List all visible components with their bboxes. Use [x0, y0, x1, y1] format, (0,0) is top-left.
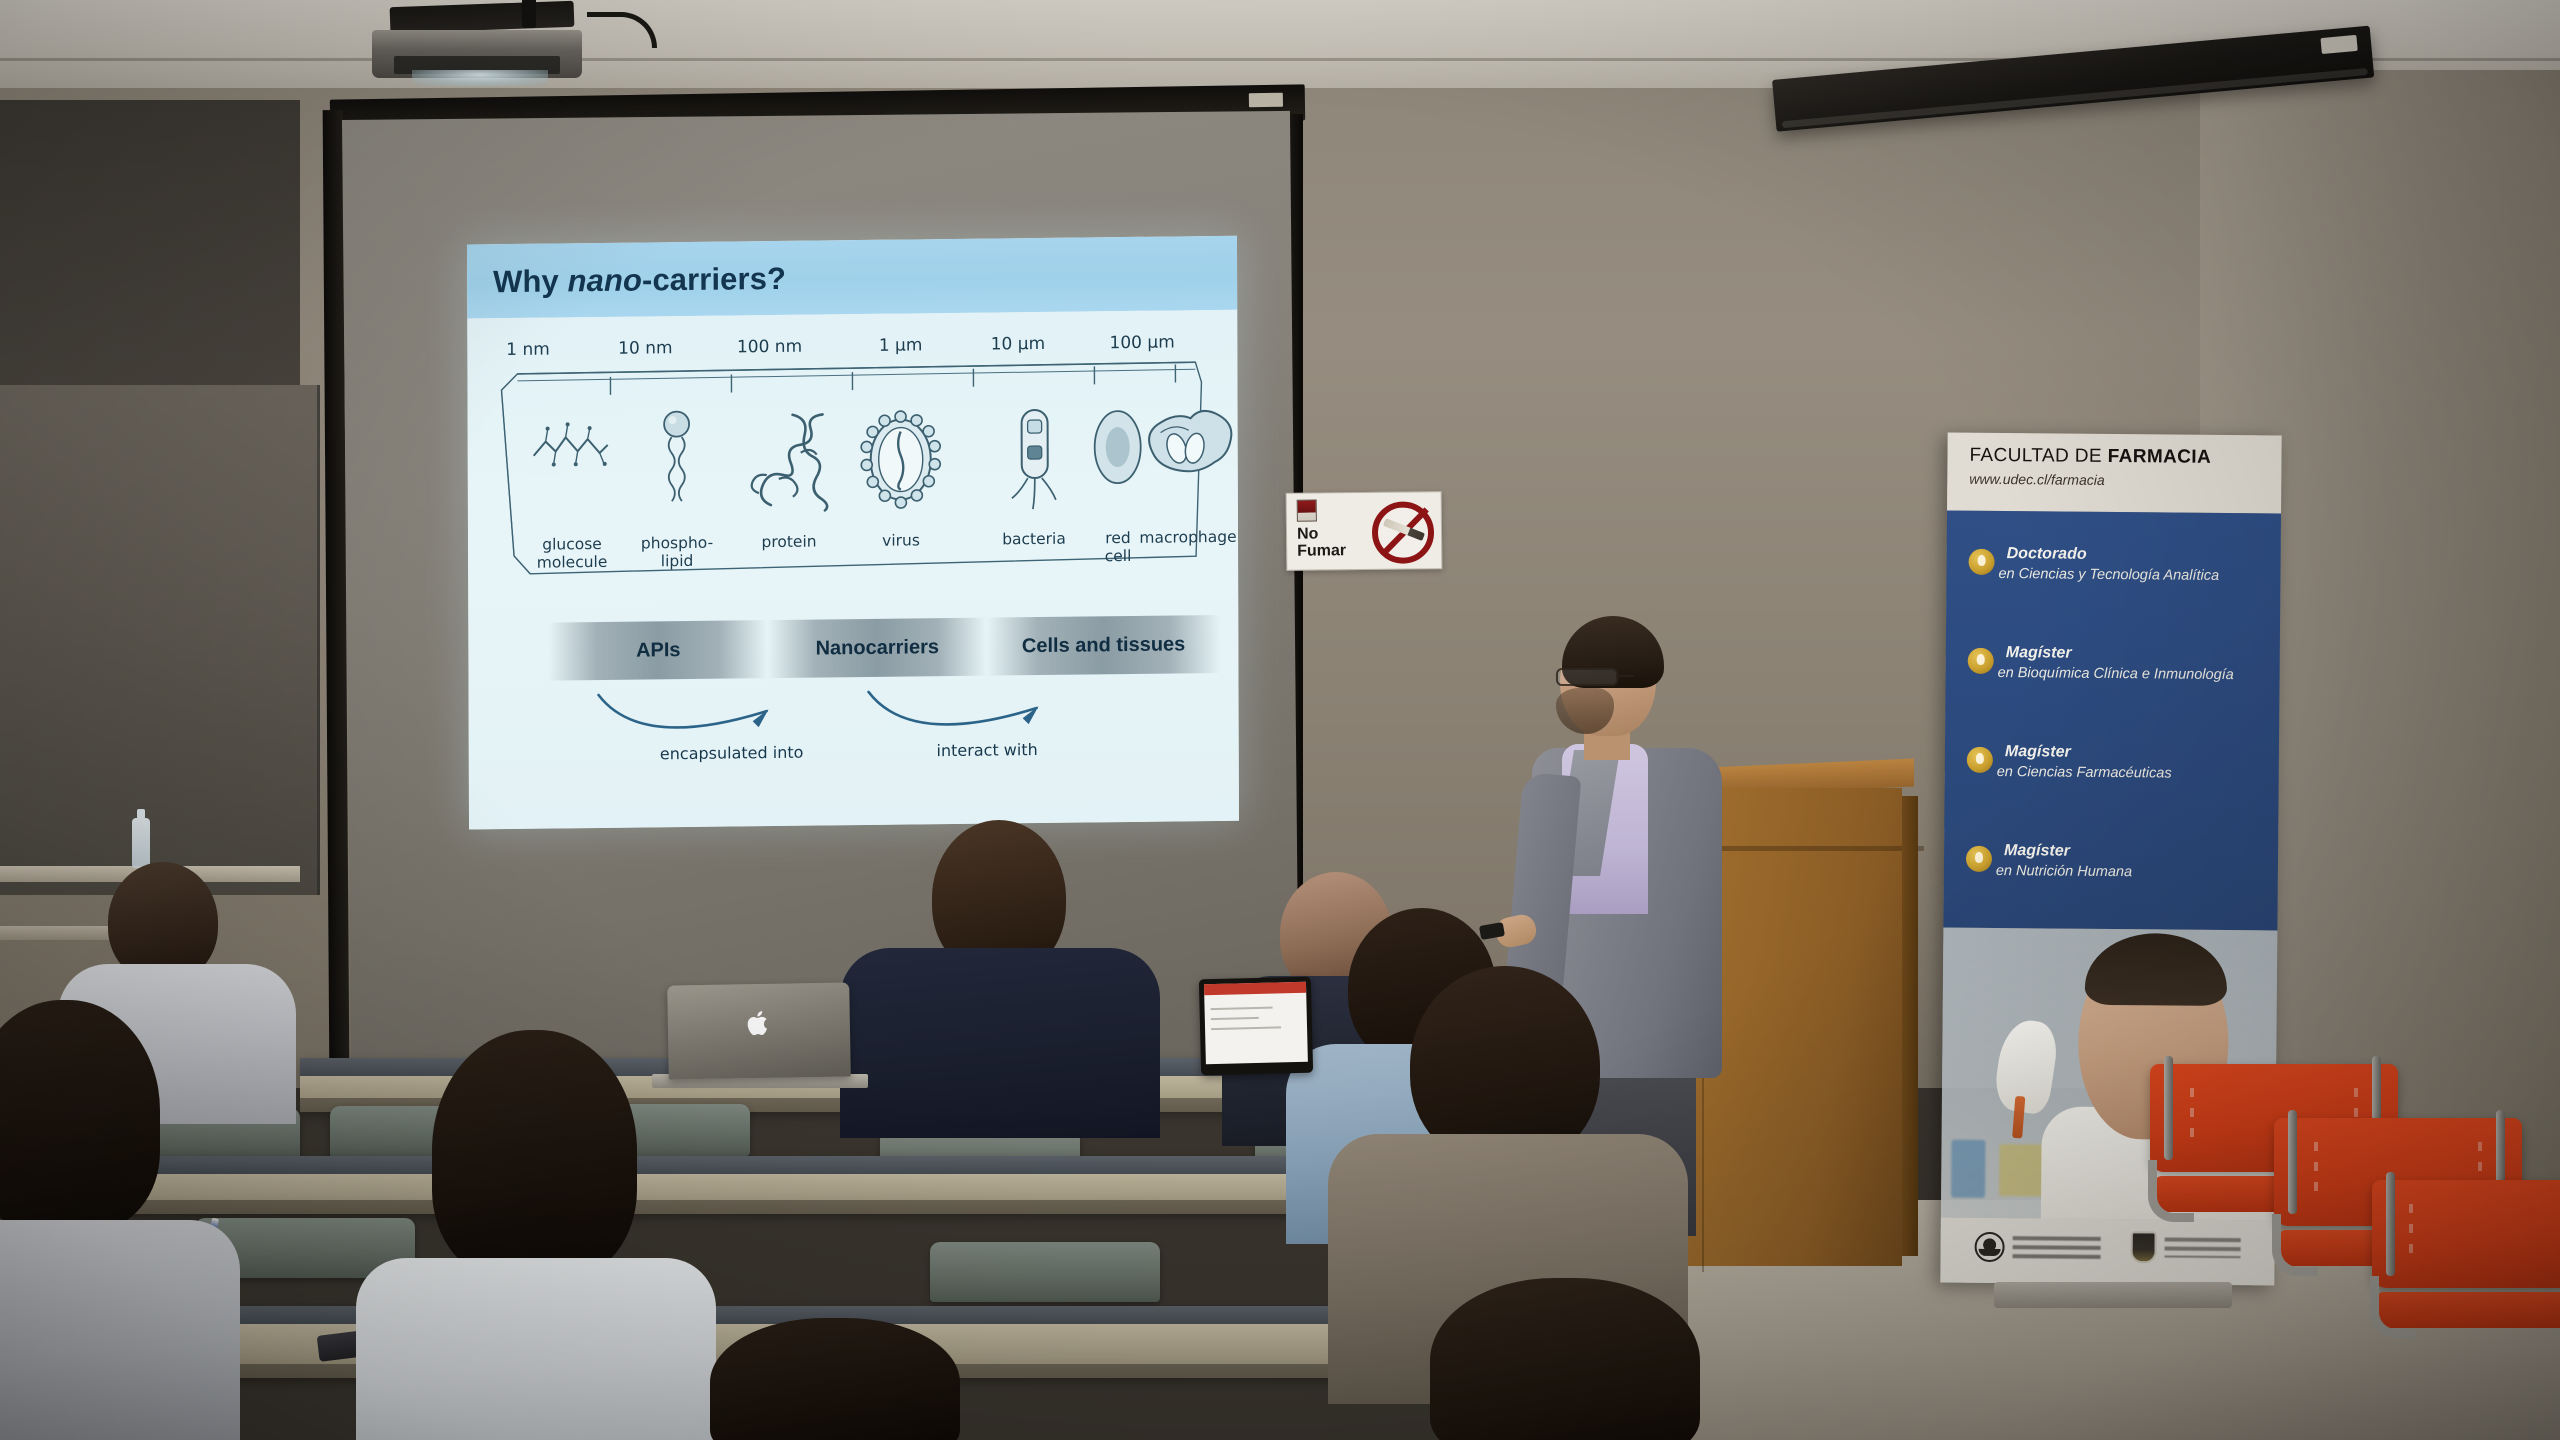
scale-tick-label-1: 10 nm [618, 338, 672, 359]
left-wall-dark-area [0, 100, 300, 400]
category-bars: APIsNanocarriersCells and tissues [490, 615, 1220, 683]
projector-arm [522, 0, 536, 28]
banner-base-stand [1994, 1282, 2232, 1308]
audience-body [356, 1258, 716, 1440]
audience-head [1430, 1278, 1700, 1440]
water-bottle [132, 818, 150, 868]
chair-backrest [2372, 1180, 2560, 1288]
arrow-encapsulated-into [593, 687, 793, 746]
no-smoking-sign: No Fumar [1286, 491, 1443, 571]
virus-icon [855, 407, 947, 512]
caption-macrophage: macrophage [1139, 528, 1236, 547]
chair-leg [2288, 1110, 2297, 1214]
left-wall-panel [0, 385, 320, 895]
chair-leg [2164, 1056, 2173, 1160]
desk-row-2-edge [120, 1200, 1340, 1214]
chair-arm [2370, 1276, 2416, 1338]
scale-tick-label-5: 100 µm [1109, 332, 1174, 353]
lab-vial-blue [1951, 1140, 1986, 1198]
program-degree: Magíster [2005, 743, 2071, 762]
second-laptop-screen [1204, 982, 1308, 1064]
shield-crest-icon [2130, 1231, 2156, 1263]
screen-roller-tab [1249, 93, 1283, 108]
caption-protein: protein [761, 533, 816, 552]
ceiling-projector [372, 16, 582, 84]
banner-header: FACULTAD DE FARMACIA www.udec.cl/farmaci… [1947, 433, 2282, 514]
lecture-hall-scene: Why nano-carriers? 1 nm10 nm100 nm1 µm10… [0, 0, 2560, 1440]
program-degree: Magíster [2004, 842, 2070, 861]
projector-mount [390, 1, 575, 33]
pipette-icon [2012, 1096, 2025, 1139]
audience-body [0, 1220, 240, 1440]
audience-member [710, 1318, 960, 1440]
program-bullet-icon [1966, 846, 1992, 872]
program-degree: Magíster [2006, 644, 2072, 663]
macbook-laptop[interactable] [667, 982, 851, 1079]
program-bullet-icon [1967, 747, 1993, 773]
banner-title: FACULTAD DE FARMACIA [1969, 445, 2281, 470]
banner-program-item: Doctoradoen Ciencias y Tecnología Analít… [1969, 545, 2269, 548]
caption-virus: virus [882, 531, 920, 549]
organism-icons-row [502, 404, 1202, 532]
bacteria-icon [1004, 406, 1064, 519]
screen-line [1211, 1026, 1281, 1030]
university-logo-wordmark [2013, 1236, 2101, 1259]
gloved-hand [1992, 1017, 2061, 1116]
caption-red-cell: red cell [1105, 529, 1132, 565]
cigarette-pack-icon [1297, 499, 1317, 521]
caption-bacteria: bacteria [1002, 530, 1066, 549]
banner-program-item: Magísteren Ciencias Farmacéuticas [1967, 743, 2267, 746]
glasses-icon [1556, 668, 1618, 686]
light-endcap [2320, 35, 2357, 54]
audience-member [0, 1000, 250, 1440]
banner-title-plain: FACULTAD DE [1969, 445, 2107, 467]
slide-title-part-2: -carriers? [642, 261, 786, 298]
seat-back [930, 1242, 1160, 1302]
program-bullet-icon [1968, 549, 1994, 575]
program-field: en Nutrición Humana [1996, 863, 2132, 880]
audience-head [710, 1318, 960, 1440]
program-degree: Doctorado [2007, 545, 2087, 564]
banner-program-item: Magísteren Nutrición Humana [1966, 842, 2266, 845]
phospholipid-icon [657, 410, 697, 518]
audience-head [0, 1000, 160, 1230]
arrow-label-interact-with: interact with [937, 740, 1038, 760]
chair-arm [2148, 1160, 2194, 1222]
audience-member [840, 820, 1160, 1110]
scale-tick-label-4: 10 µm [991, 334, 1045, 355]
program-field: en Bioquímica Clínica e Inmunología [1998, 665, 2234, 683]
banner-title-bold: FARMACIA [2108, 446, 2212, 468]
macrophage-icon [1137, 404, 1239, 491]
shield-crest-wordmark [2165, 1237, 2241, 1258]
no-smoking-sign-text: No Fumar [1297, 525, 1346, 560]
audience-member [1430, 1278, 1700, 1440]
category-label: APIs [636, 639, 681, 663]
program-bullet-icon [1968, 648, 1994, 674]
scale-tick-label-2: 100 nm [737, 337, 802, 358]
slide-title-emphasis: nano [567, 262, 642, 298]
organism-captions: glucose moleculephospho- lipidproteinvir… [502, 528, 1202, 582]
category-apis: APIs [549, 620, 768, 680]
screen-line [1211, 1017, 1259, 1020]
apple-logo-icon [747, 1009, 771, 1037]
program-field: en Ciencias y Tecnología Analítica [1998, 566, 2219, 584]
banner-footer-logos [1940, 1218, 2275, 1286]
audience-member [370, 1030, 700, 1440]
slide-title: Why nano-carriers? [493, 261, 786, 300]
category-label: Nanocarriers [816, 636, 939, 660]
scale-tick-label-0: 1 nm [506, 340, 550, 360]
presentation-slide: Why nano-carriers? 1 nm10 nm100 nm1 µm10… [467, 236, 1239, 830]
slide-body: 1 nm10 nm100 nm1 µm10 µm100 µm [467, 310, 1239, 830]
audience-body [840, 948, 1160, 1138]
relation-arrows: encapsulated intointeract with [491, 682, 1221, 786]
banner-url: www.udec.cl/farmacia [1969, 471, 2281, 490]
category-cells-and-tissues: Cells and tissues [987, 615, 1221, 676]
chair-arm [2272, 1214, 2318, 1276]
category-nanocarriers: Nanocarriers [768, 618, 987, 678]
scale-tick-label-3: 1 µm [879, 335, 923, 355]
arrow-interact-with [863, 684, 1063, 743]
category-label: Cells and tissues [1022, 633, 1185, 658]
audience-head [432, 1030, 637, 1280]
lectern-side [1902, 796, 1918, 1256]
glucose-molecule-icon [526, 411, 618, 482]
slide-title-part-1: Why [493, 263, 568, 299]
caption-phospholipid: phospho- lipid [641, 534, 713, 571]
student-hair [2085, 933, 2228, 1006]
chair-leg [2386, 1172, 2395, 1276]
desk-row-2 [120, 1156, 1340, 1214]
arrow-label-encapsulated-into: encapsulated into [660, 743, 804, 764]
program-field: en Ciencias Farmacéuticas [1997, 764, 2172, 782]
protein-icon [741, 408, 837, 513]
second-laptop[interactable] [1199, 977, 1313, 1076]
university-logo-icon [1974, 1232, 2004, 1262]
caption-glucose-molecule: glucose molecule [537, 535, 608, 572]
banner-program-item: Magísteren Bioquímica Clínica e Inmunolo… [1968, 644, 2268, 647]
banner-program-list: Doctoradoen Ciencias y Tecnología Analít… [1943, 511, 2281, 931]
desk-row-2-top [120, 1156, 1340, 1174]
screen-line [1211, 1007, 1273, 1011]
second-laptop-titlebar [1204, 982, 1306, 995]
projector-lens [412, 70, 548, 86]
